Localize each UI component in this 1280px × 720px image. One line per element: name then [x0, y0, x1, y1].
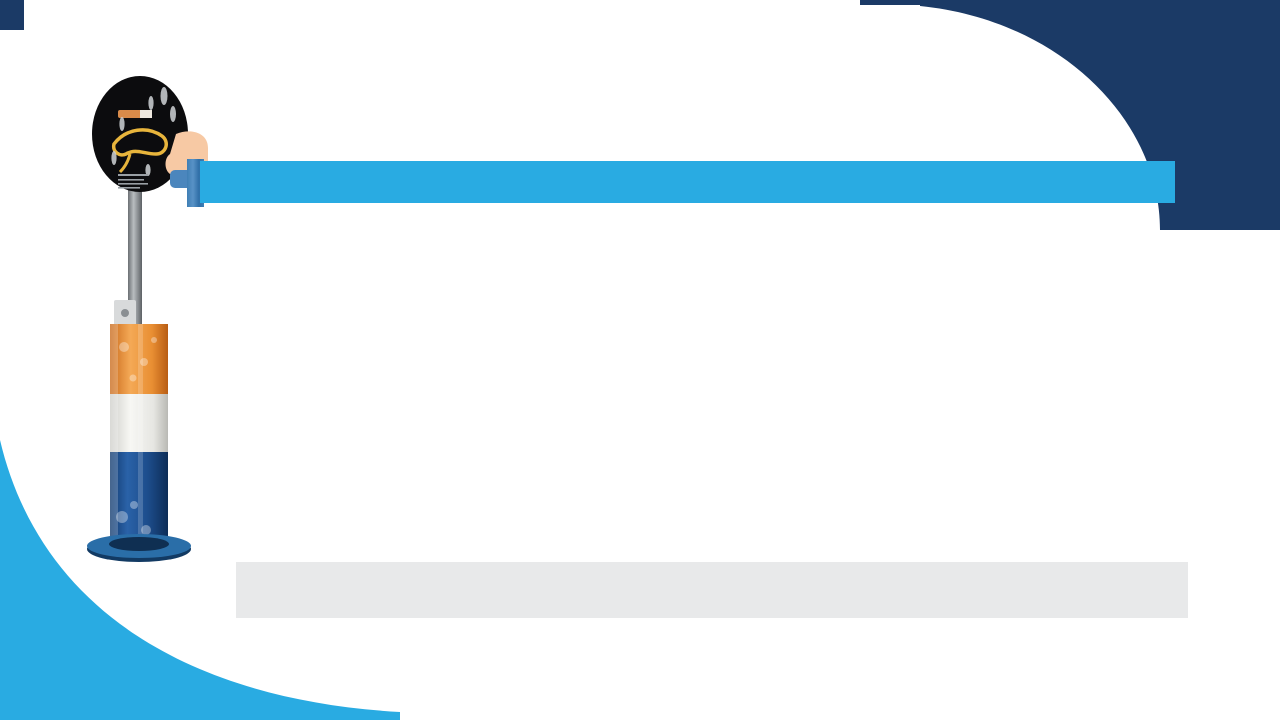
slide-title-band: [200, 161, 1175, 203]
x-axis-tick-labels: [230, 497, 1190, 523]
top-left-accent-strip: [0, 0, 24, 30]
cigarette-collector-photo: [78, 62, 208, 562]
chart-legend: [236, 562, 1188, 618]
slide-canvas: [0, 0, 1280, 720]
wave-area-chart: [230, 262, 1190, 527]
chart-plot-area: [230, 262, 1190, 527]
